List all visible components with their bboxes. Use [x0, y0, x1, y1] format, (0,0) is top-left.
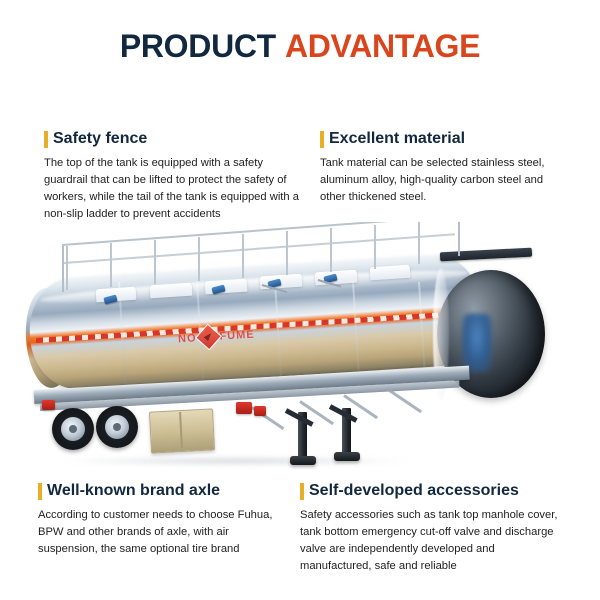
guardrail-post	[198, 237, 200, 281]
product-image: NO FUME	[0, 222, 600, 484]
feature-body-text: Safety accessories such as tank top manh…	[300, 507, 562, 575]
guardrail-end-post	[62, 246, 64, 292]
guardrail-mid-rail	[64, 233, 455, 263]
feature-heading: Safety fence	[44, 130, 302, 148]
feature-safety-fence: Safety fence The top of the tank is equi…	[44, 130, 302, 223]
page-title-part1: PRODUCT	[120, 28, 276, 64]
guardrail-end-post	[458, 222, 460, 256]
accent-bar-icon	[320, 131, 324, 148]
wheel-hub-center	[69, 425, 77, 433]
landing-gear-foot	[290, 456, 316, 465]
feature-heading-text: Well-known brand axle	[47, 482, 220, 500]
emergency-valve	[254, 406, 266, 416]
guardrail-post	[286, 231, 288, 275]
feature-heading: Well-known brand axle	[38, 482, 278, 500]
page-title: PRODUCTADVANTAGE	[0, 30, 600, 62]
feature-heading-text: Safety fence	[53, 130, 147, 148]
feature-heading: Self-developed accessories	[300, 482, 562, 500]
guardrail-post	[330, 228, 332, 272]
feature-body-text: The top of the tank is equipped with a s…	[44, 155, 302, 223]
emergency-valve	[236, 402, 252, 414]
accent-bar-icon	[38, 483, 42, 500]
guardrail-post	[418, 222, 420, 264]
feature-well-known-brand-axle: Well-known brand axle According to custo…	[38, 482, 278, 558]
guardrail-post	[66, 246, 68, 290]
feature-body-text: According to customer needs to choose Fu…	[38, 507, 278, 558]
guardrail-post	[110, 243, 112, 287]
guardrail-top-rail	[62, 222, 461, 246]
feature-heading: Excellent material	[320, 130, 570, 148]
tanker-illustration: NO FUME	[0, 222, 600, 484]
product-advantage-poster: PRODUCTADVANTAGE Safety fence The top of…	[0, 0, 600, 600]
guardrail-post	[242, 234, 244, 278]
accent-bar-icon	[44, 131, 48, 148]
guardrail-post	[374, 225, 376, 269]
feature-body-text: Tank material can be selected stainless …	[320, 155, 570, 206]
page-title-part2: ADVANTAGE	[285, 28, 480, 64]
accent-bar-icon	[300, 483, 304, 500]
feature-self-developed-accessories: Self-developed accessories Safety access…	[300, 482, 562, 575]
feature-heading-text: Excellent material	[329, 130, 465, 148]
guardrail-post	[154, 240, 156, 284]
wheel-hub-center	[113, 423, 121, 431]
emergency-valve	[42, 400, 55, 410]
feature-heading-text: Self-developed accessories	[309, 482, 519, 500]
feature-excellent-material: Excellent material Tank material can be …	[320, 130, 570, 206]
landing-gear-foot	[334, 452, 360, 461]
